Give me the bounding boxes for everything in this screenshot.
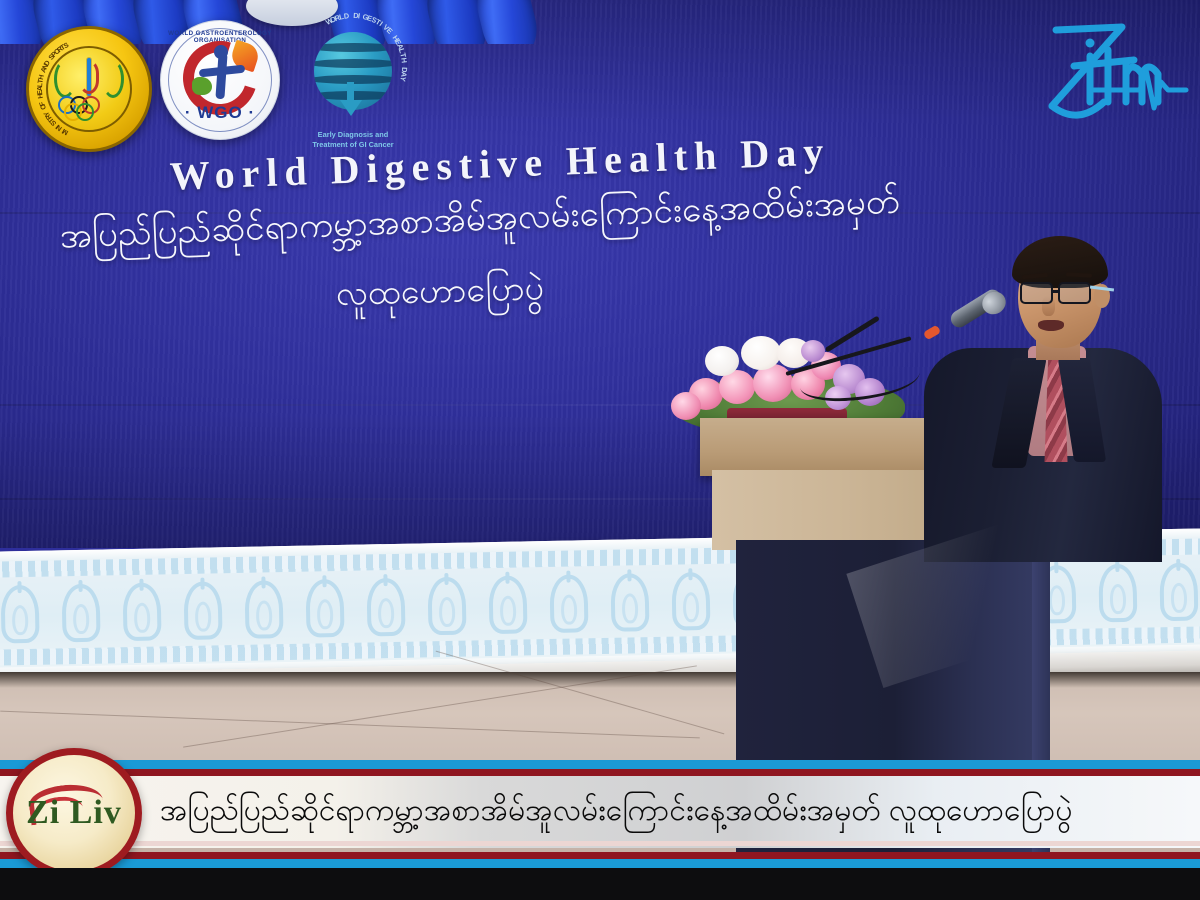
caption-bar: အပြည်ပြည်ဆိုင်ရာကမ္ဘာ့အစာအိမ်အူလမ်းကြောင… [0,760,1200,868]
ministry-of-health-logo: MINISTRY OF HEALTH AND SPORTS [26,26,152,152]
caption-text: အပြည်ပြည်ဆိုင်ရာကမ္ဘာ့အစာအိမ်အူလမ်းကြောင… [160,790,1073,835]
wgo-acronym: · WGO · [161,103,279,123]
frieze-motif [111,580,173,643]
frieze-motif [294,577,356,640]
caption-stripe-red-top [0,769,1200,776]
wgo-logo: WORLD GASTROENTEROLOGY ORGANISATION · WG… [160,20,280,140]
wdhd-arc-char: I [357,11,361,20]
wdhd-arc-char: Y [398,75,408,82]
arrow-down-icon [340,100,362,116]
frieze-motif [599,571,661,634]
caption-stripe-red-bottom [0,852,1200,859]
frieze-motif [0,583,52,646]
photo-stage: MINISTRY OF HEALTH AND SPORTS WORLD GAST… [0,0,1200,900]
wdhd-arc-char [400,62,409,65]
world-digestive-health-day-logo: WORLD DIGESTIVE HEALTH DAY Early Diagnos… [288,8,418,158]
caption-body: အပြည်ပြည်ဆိုင်ရာကမ္ဘာ့အစာအိမ်အူလမ်းကြောင… [0,776,1200,848]
frieze-motif [1148,560,1200,623]
frieze-motif [416,574,478,637]
caption-stripe-cyan-top [0,760,1200,769]
frieze-motif [538,572,600,635]
ziliv-logo: Zi Liv [6,748,142,878]
frieze-motif [50,581,112,644]
frieze-motif [477,573,539,636]
bottom-letterbox [0,868,1200,900]
ziliv-logo-text: Zi Liv [26,794,122,832]
eyeglasses-icon [1016,280,1108,306]
caption-stripe-cyan-bottom [0,859,1200,868]
wdhd-arc-char [348,11,351,20]
speaker-at-podium [918,228,1168,558]
frieze-motif [355,576,417,639]
moh-arc-text: MINISTRY OF HEALTH AND SPORTS [29,29,149,149]
zifam-watermark [1030,10,1190,132]
frieze-motif [172,579,234,642]
frieze-motif [1087,561,1149,624]
frieze-motif [660,570,722,633]
frieze-motif [233,578,295,641]
